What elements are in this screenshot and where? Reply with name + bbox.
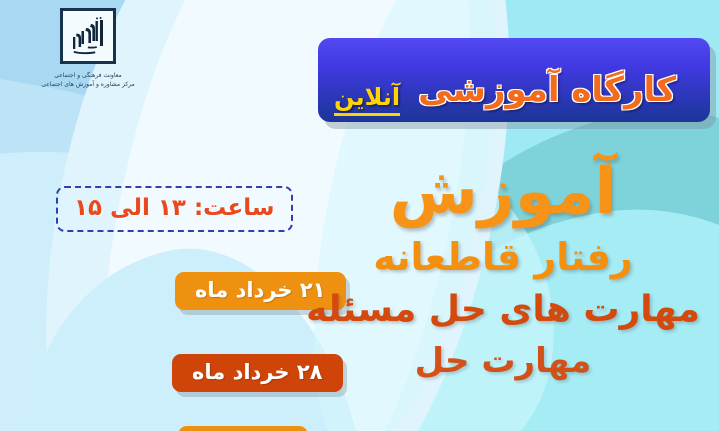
time-badge: ساعت: ۱۳ الی ۱۵ (56, 186, 293, 232)
title-line-fourth-partial: مهارت حل (303, 344, 703, 378)
workshop-banner: کارگاه آموزشی آنلاین (318, 38, 710, 122)
topic-title-group: آموزش رفتار قاطعانه مهارت های حل مسئله م… (303, 160, 703, 378)
title-line-assertive-behavior: رفتار قاطعانه (303, 238, 703, 276)
logo-subtitle-line-1: معاونت فرهنگی و اجتماعی (18, 71, 158, 80)
workshop-poster: معاونت فرهنگی و اجتماعی مرکز مشاوره و آم… (0, 0, 719, 431)
title-line-problem-solving: مهارت های حل مسئله (303, 292, 703, 328)
date-badge-3: ۴ تیر ماه (178, 426, 308, 431)
university-seal-icon (60, 8, 116, 64)
university-logo-block: معاونت فرهنگی و اجتماعی مرکز مشاوره و آم… (18, 8, 158, 89)
banner-mode-online: آنلاین (334, 83, 400, 116)
title-line-education: آموزش (303, 160, 703, 224)
banner-title: کارگاه آموزشی (418, 70, 676, 110)
logo-subtitle-line-2: مرکز مشاوره و آموزش های اجتماعی (18, 80, 158, 89)
